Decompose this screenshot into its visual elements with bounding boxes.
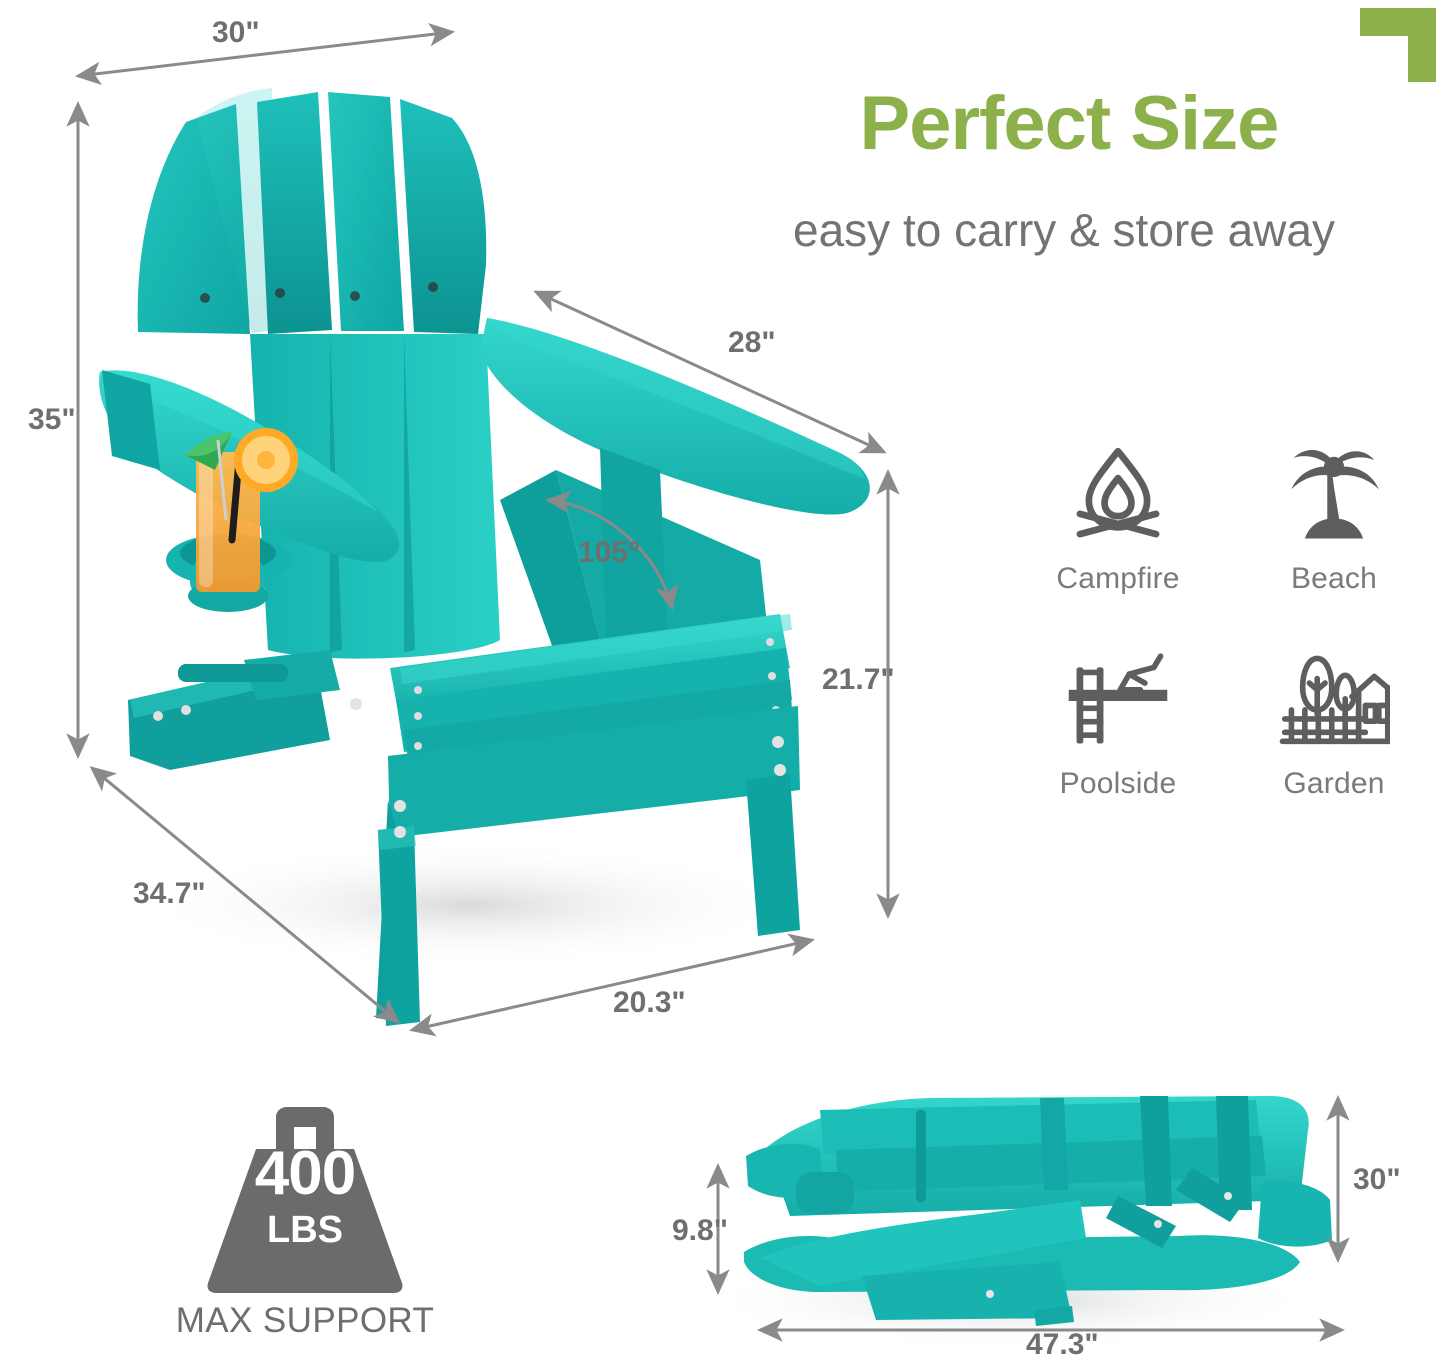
- infographic-canvas: Perfect Size easy to carry & store away …: [0, 0, 1438, 1369]
- page-subtitle: easy to carry & store away: [690, 205, 1438, 256]
- right-armrest: [480, 318, 870, 515]
- dimension-label-height-left: 35": [28, 405, 76, 435]
- usage-item-garden: Garden: [1226, 645, 1438, 840]
- chair-base-left: [128, 650, 340, 770]
- garden-house-icon: [1278, 645, 1390, 757]
- dimension-label-seat-height: 21.7": [822, 665, 895, 695]
- chair-back-slats: [138, 88, 487, 334]
- chair-seat: [390, 614, 794, 790]
- dimension-label-folded-depth: 30": [1353, 1165, 1401, 1195]
- chair-legs: [378, 774, 800, 1026]
- usage-item-campfire: Campfire: [1010, 440, 1226, 635]
- usage-item-poolside: Poolside: [1010, 645, 1226, 840]
- dimension-label-depth-diagonal: 34.7": [133, 879, 206, 909]
- folded-chair-illustration: [744, 1096, 1332, 1326]
- usage-label: Campfire: [1056, 562, 1179, 596]
- dimension-label-folded-length: 47.3": [1026, 1330, 1099, 1360]
- usage-item-beach: Beach: [1226, 440, 1438, 635]
- left-armrest: [99, 370, 399, 562]
- weight-value: 400: [190, 1143, 420, 1205]
- max-support-badge: 400 LBS MAX SUPPORT: [150, 1105, 460, 1341]
- dimension-label-arm-depth: 28": [728, 328, 776, 358]
- dimension-label-width-top: 30": [212, 18, 260, 48]
- dimension-lines-folded: [718, 1098, 1342, 1330]
- usage-label: Poolside: [1060, 767, 1177, 801]
- dimension-label-back-angle: 105°: [578, 538, 640, 568]
- dimension-label-folded-height: 9.8": [672, 1216, 728, 1246]
- palm-tree-icon: [1278, 440, 1390, 552]
- weight-unit: LBS: [190, 1211, 420, 1249]
- campfire-icon: [1062, 440, 1174, 552]
- page-title: Perfect Size: [700, 86, 1438, 162]
- cocktail-glass: [185, 428, 298, 592]
- corner-bracket-logo: [1352, 6, 1438, 84]
- cup-holder: [166, 534, 290, 612]
- usage-label: Garden: [1283, 767, 1384, 801]
- dimension-label-depth-front: 20.3": [613, 988, 686, 1018]
- pool-ladder-icon: [1062, 645, 1174, 757]
- weight-icon-wrap: 400 LBS: [190, 1105, 420, 1295]
- usage-scenarios-grid: Campfire Beach: [1010, 440, 1438, 840]
- max-support-caption: MAX SUPPORT: [150, 1301, 460, 1341]
- usage-label: Beach: [1291, 562, 1377, 596]
